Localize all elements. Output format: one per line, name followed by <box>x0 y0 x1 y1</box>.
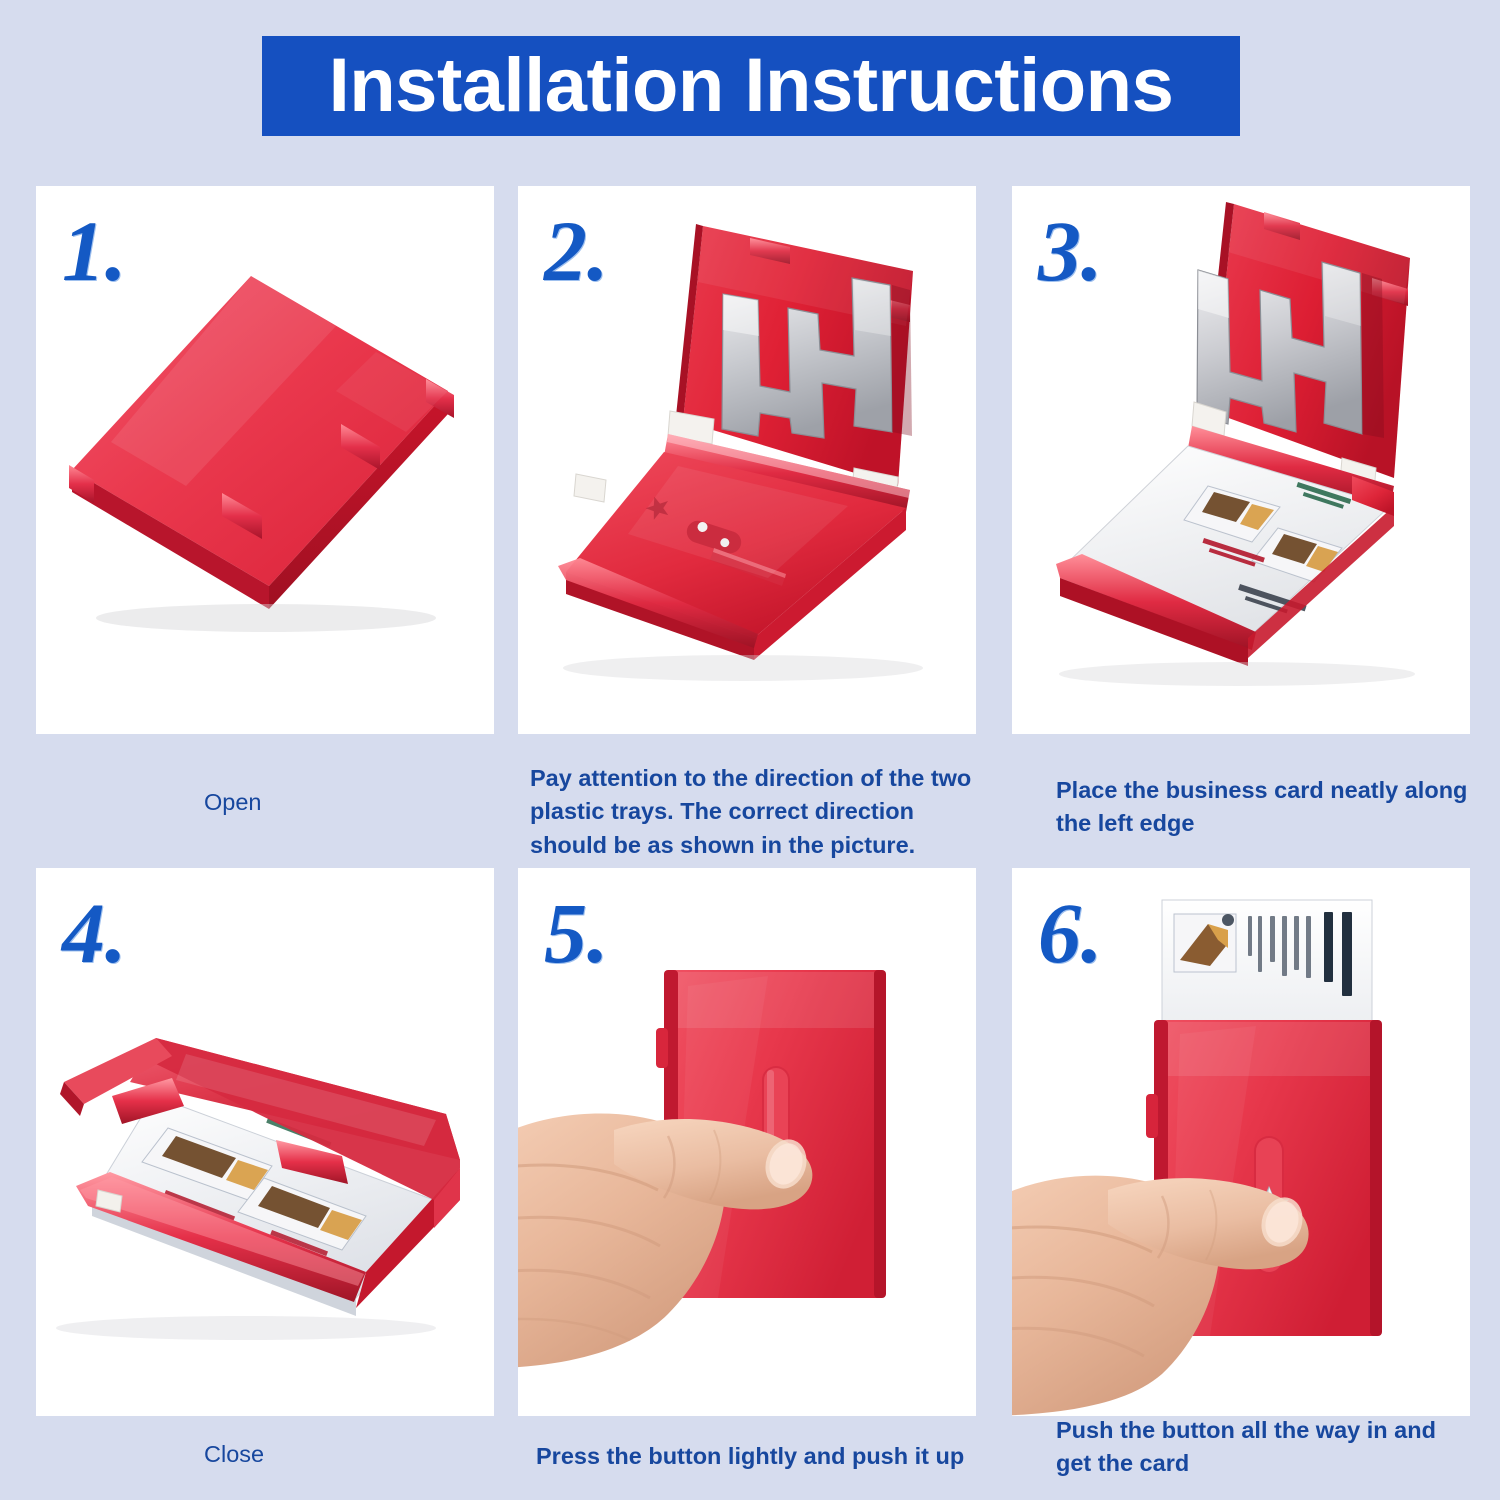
step-5: 5. Press the button lightly and push it … <box>518 868 976 1416</box>
step-5-photo: 5. <box>518 868 976 1416</box>
step-3-caption: Place the business card neatly along the… <box>1056 774 1486 841</box>
step-2: 2. Pay attention to the direction of the… <box>518 186 976 734</box>
page-title: Installation Instructions <box>329 48 1174 124</box>
step-1-photo: 1. <box>36 186 494 734</box>
step-2-photo: 2. <box>518 186 976 734</box>
step-6-photo: 6. <box>1012 868 1470 1416</box>
step-4: 4. Close <box>36 868 494 1416</box>
title-banner: Installation Instructions <box>262 36 1240 136</box>
step-6: 6. Push the button all the way in and ge… <box>1012 868 1470 1416</box>
step-4-caption: Close <box>204 1438 504 1471</box>
step-5-number: 5. <box>544 890 609 976</box>
step-4-number: 4. <box>62 890 127 976</box>
step-1-number: 1. <box>62 208 127 294</box>
infographic-page: Installation Instructions <box>0 0 1500 1500</box>
step-2-number: 2. <box>544 208 609 294</box>
step-2-caption: Pay attention to the direction of the tw… <box>530 762 986 862</box>
step-1: 1. Open <box>36 186 494 734</box>
step-4-photo: 4. <box>36 868 494 1416</box>
step-6-caption: Push the button all the way in and get t… <box>1056 1414 1456 1481</box>
step-6-number: 6. <box>1038 890 1103 976</box>
step-3-photo: 3. <box>1012 186 1470 734</box>
step-3-number: 3. <box>1038 208 1103 294</box>
step-3: 3. Place the business card neatly along … <box>1012 186 1470 734</box>
step-1-caption: Open <box>204 786 504 819</box>
step-5-caption: Press the button lightly and push it up <box>536 1440 976 1473</box>
